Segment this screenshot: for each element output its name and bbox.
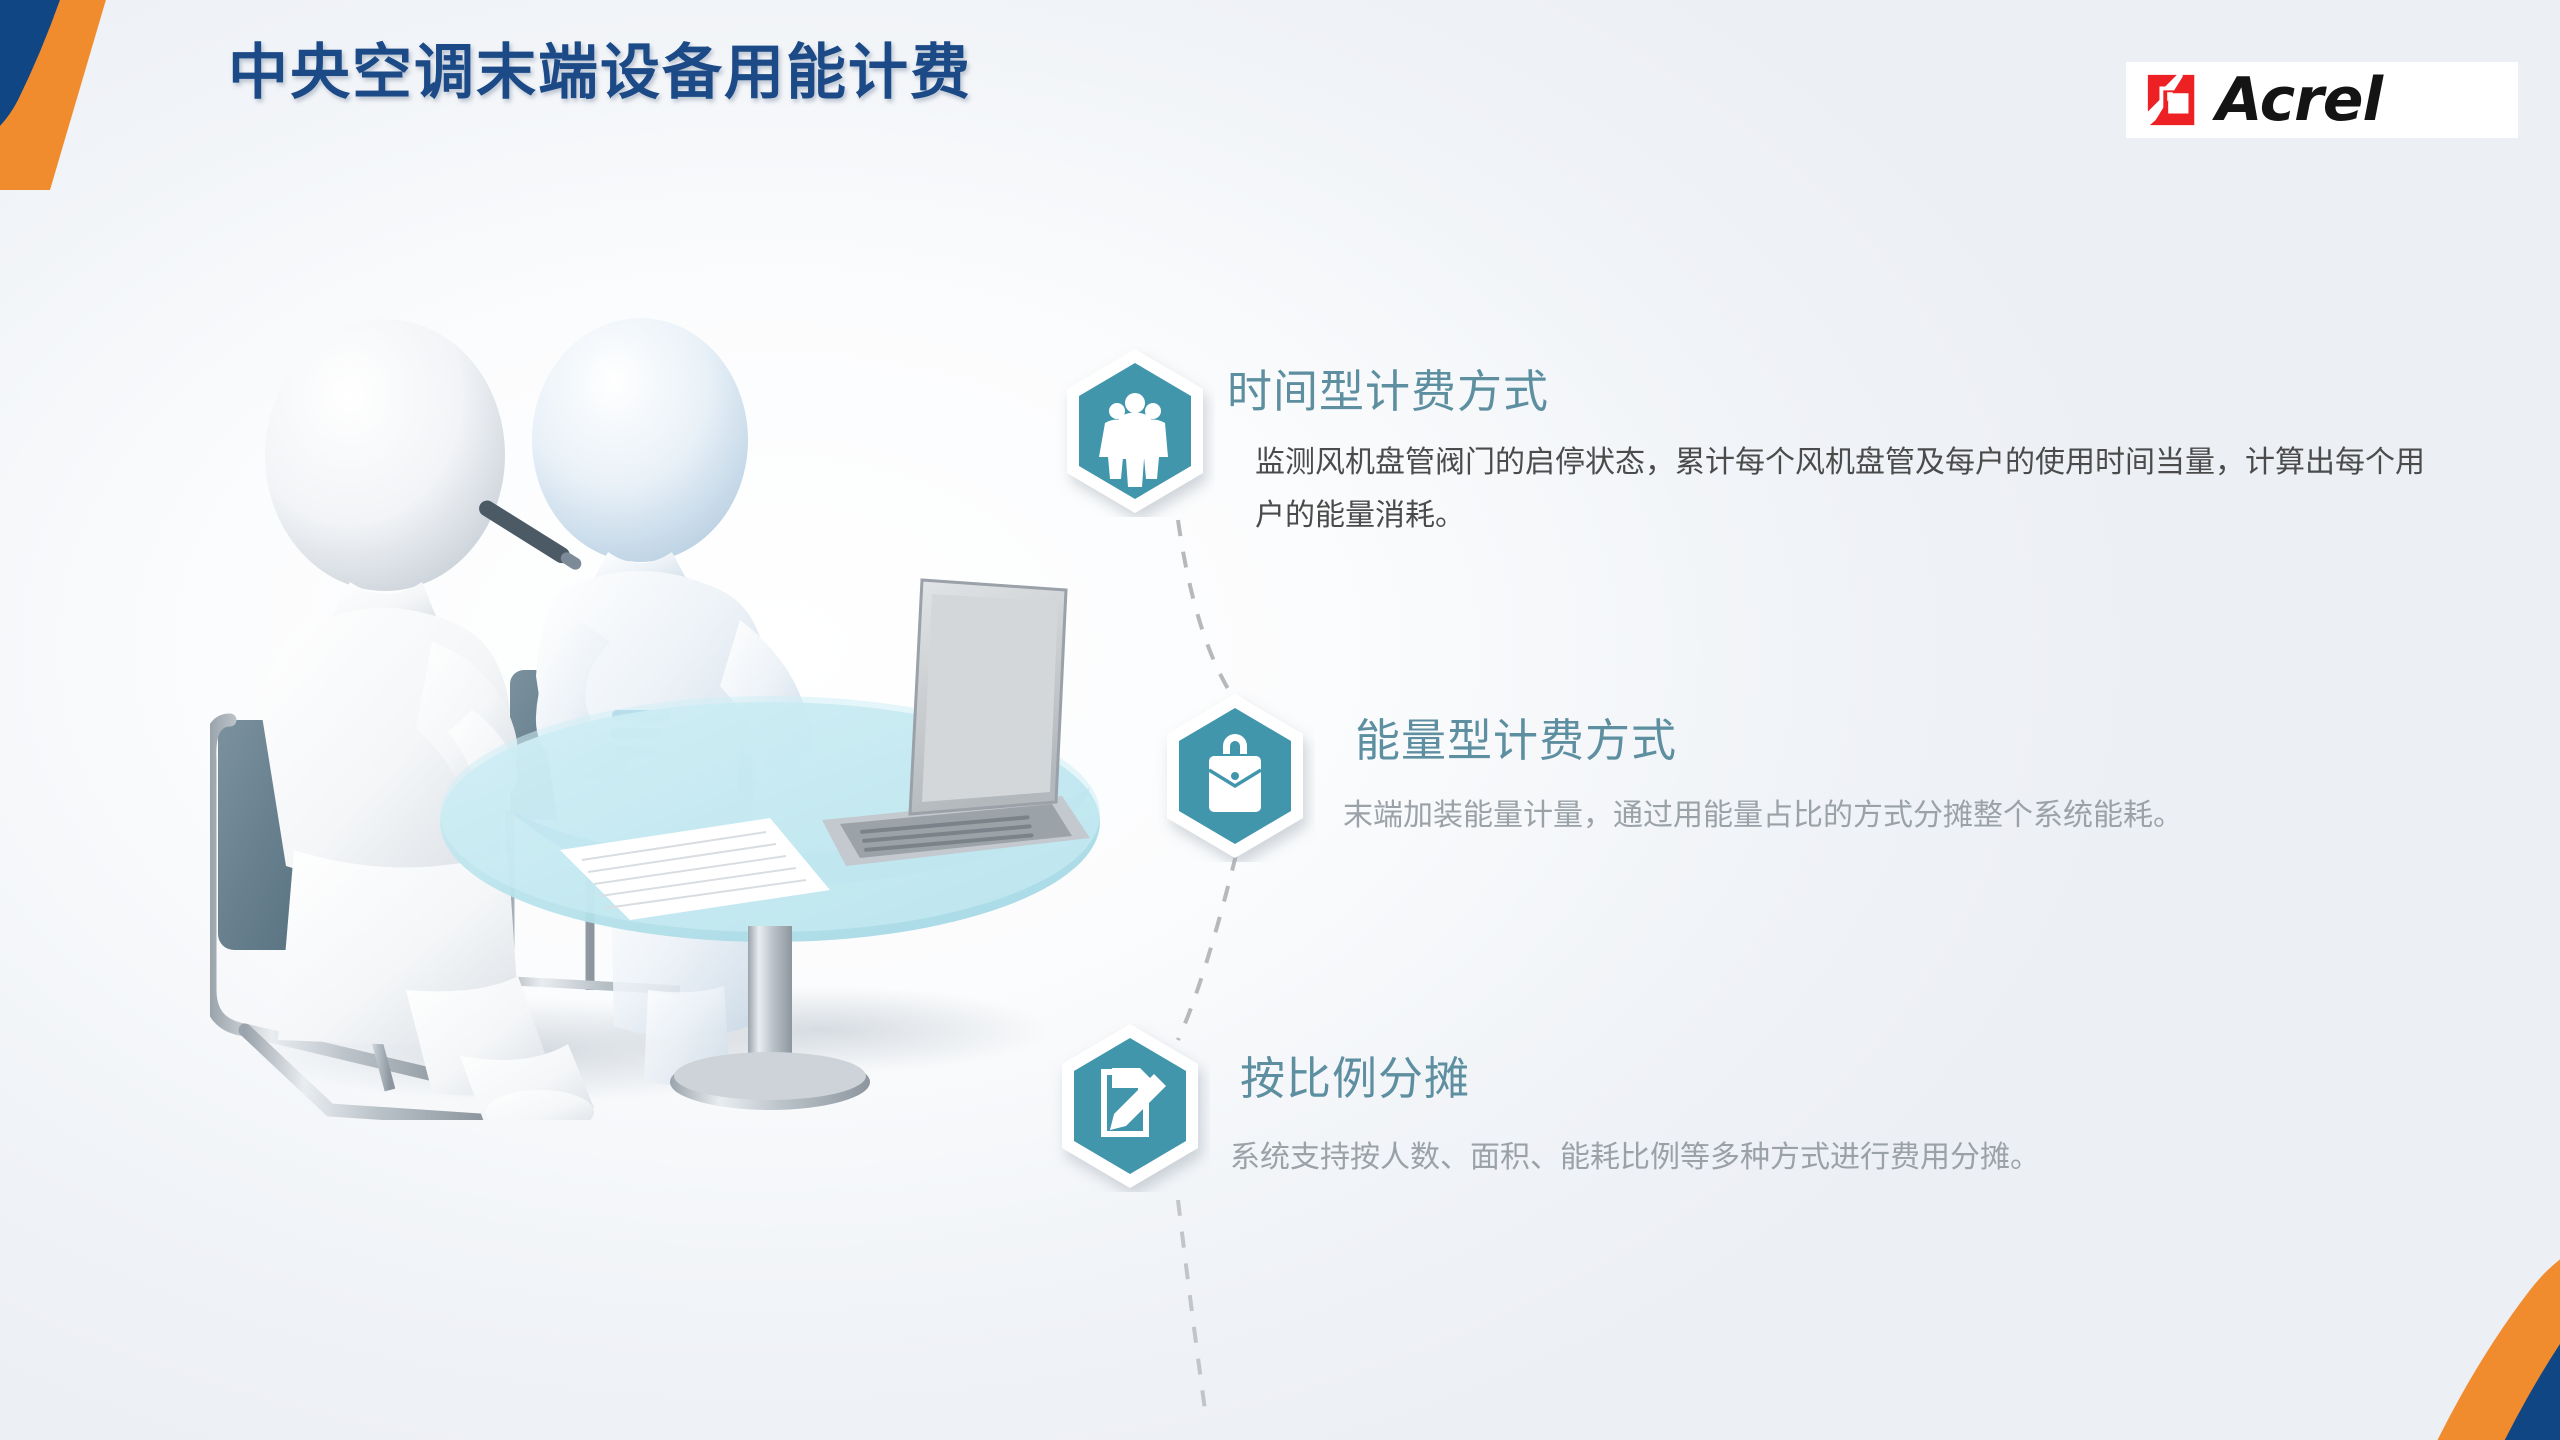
hexagon-badge[interactable]: [1155, 690, 1315, 862]
feature-body: 系统支持按人数、面积、能耗比例等多种方式进行费用分摊。: [1230, 1132, 2290, 1185]
feature-heading: 能量型计费方式: [1355, 704, 1677, 769]
feature-heading: 按比例分摊: [1240, 1042, 1470, 1107]
corner-decoration-top-left: [0, 0, 180, 190]
illustration-people-at-table: [210, 290, 1160, 1120]
hexagon-badge[interactable]: [1055, 345, 1215, 517]
feature-body: 监测风机盘管阀门的启停状态，累计每个风机盘管及每户的使用时间当量，计算出每个用户…: [1255, 437, 2435, 542]
slide-root: 中央空调末端设备用能计费 Acrel: [0, 0, 2560, 1440]
brand-logo: Acrel: [2126, 62, 2518, 138]
feature-body: 末端加装能量计量，通过用能量占比的方式分摊整个系统能耗。: [1343, 790, 2463, 843]
corner-decoration-bottom-right: [2300, 1210, 2560, 1440]
acrel-logo-mark-icon: [2144, 71, 2202, 129]
page-title: 中央空调末端设备用能计费: [228, 24, 972, 111]
brand-logo-text: Acrel: [2216, 70, 2382, 130]
feature-heading: 时间型计费方式: [1227, 355, 1549, 420]
hexagon-badge[interactable]: [1050, 1020, 1210, 1192]
